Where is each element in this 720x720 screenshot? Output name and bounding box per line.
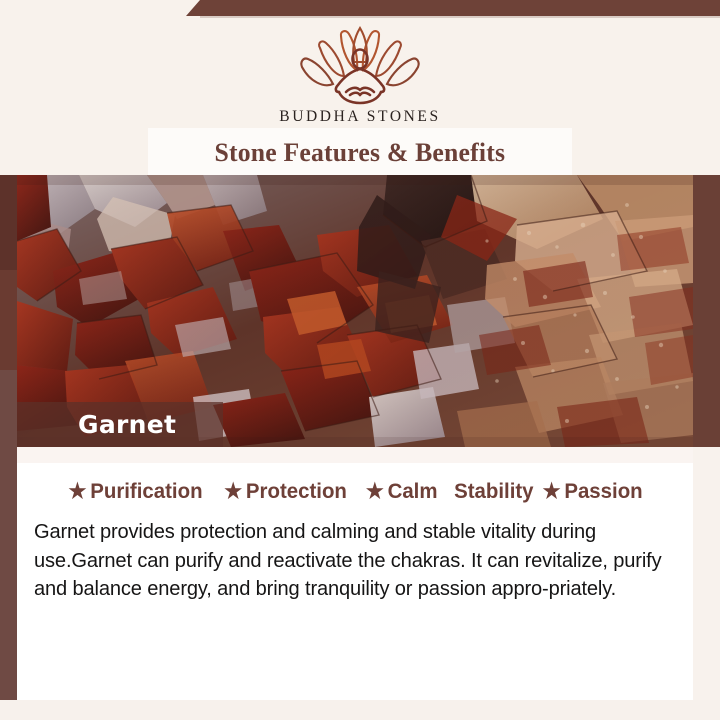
benefit-protection: ★ Protection <box>225 479 348 504</box>
benefit-label: Stability <box>454 479 533 504</box>
stone-name: Garnet <box>78 410 176 439</box>
stone-features-infographic: BUDDHA STONES Stone Features & Benefits <box>0 0 720 720</box>
benefit-passion: ★ Passion <box>542 479 642 504</box>
brand-logo-block: BUDDHA STONES <box>0 22 720 126</box>
left-accent-strip-dark <box>0 175 17 270</box>
lotus-meditation-logo-icon <box>280 22 440 106</box>
benefit-label: Protection <box>246 479 347 504</box>
content-card-top-fade <box>17 447 693 463</box>
benefit-calm: ★ Calm <box>366 479 438 504</box>
stone-description: Garnet provides protection and calming a… <box>34 518 672 604</box>
benefit-stability: Stability <box>454 479 533 504</box>
star-icon: ★ <box>542 481 560 502</box>
stone-name-band: Garnet <box>17 402 223 447</box>
benefit-label: Purification <box>90 479 202 504</box>
brand-name: BUDDHA STONES <box>0 108 720 126</box>
bottom-cream-band <box>0 700 720 720</box>
right-accent-strip <box>693 175 720 447</box>
benefit-label: Passion <box>564 479 642 504</box>
star-icon: ★ <box>225 481 243 502</box>
top-corner-banner-shadow <box>200 16 720 18</box>
benefits-row: ★ Purification ★ Protection ★ Calm Stabi… <box>17 479 693 504</box>
left-accent-strip-mid <box>0 270 17 370</box>
star-icon: ★ <box>69 481 87 502</box>
top-corner-banner <box>186 0 720 16</box>
page-title: Stone Features & Benefits <box>215 137 506 168</box>
star-icon: ★ <box>366 481 384 502</box>
title-band: Stone Features & Benefits <box>148 128 572 176</box>
benefit-purification: ★ Purification <box>69 479 203 504</box>
benefit-label: Calm <box>388 479 438 504</box>
